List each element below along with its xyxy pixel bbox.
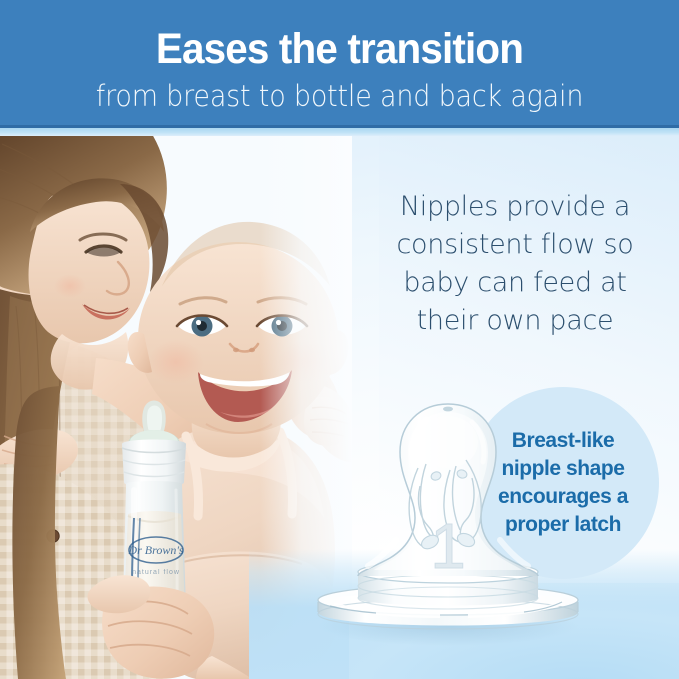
feature-description-line-1: Nipples provide a: [365, 188, 665, 226]
page-subtitle: from breast to bottle and back again: [24, 80, 655, 112]
nipple-level-number: 1: [430, 510, 466, 582]
svg-text:Dr Brown's: Dr Brown's: [127, 543, 183, 557]
feature-description: Nipples provide a consistent flow so bab…: [365, 188, 665, 340]
header-accent-band: [0, 128, 679, 136]
product-feature-banner: Dr Brown's natural flow Eases the transi…: [0, 0, 679, 679]
svg-text:natural flow: natural flow: [132, 569, 180, 576]
feature-description-line-2: consistent flow so: [365, 226, 665, 264]
feature-description-line-3: baby can feed at: [365, 264, 665, 302]
product-nipple-image: 1: [300, 390, 590, 652]
feature-description-line-4: their own pace: [365, 302, 665, 340]
page-title: Eases the transition: [20, 26, 658, 72]
header-banner: Eases the transition from breast to bott…: [0, 0, 679, 128]
